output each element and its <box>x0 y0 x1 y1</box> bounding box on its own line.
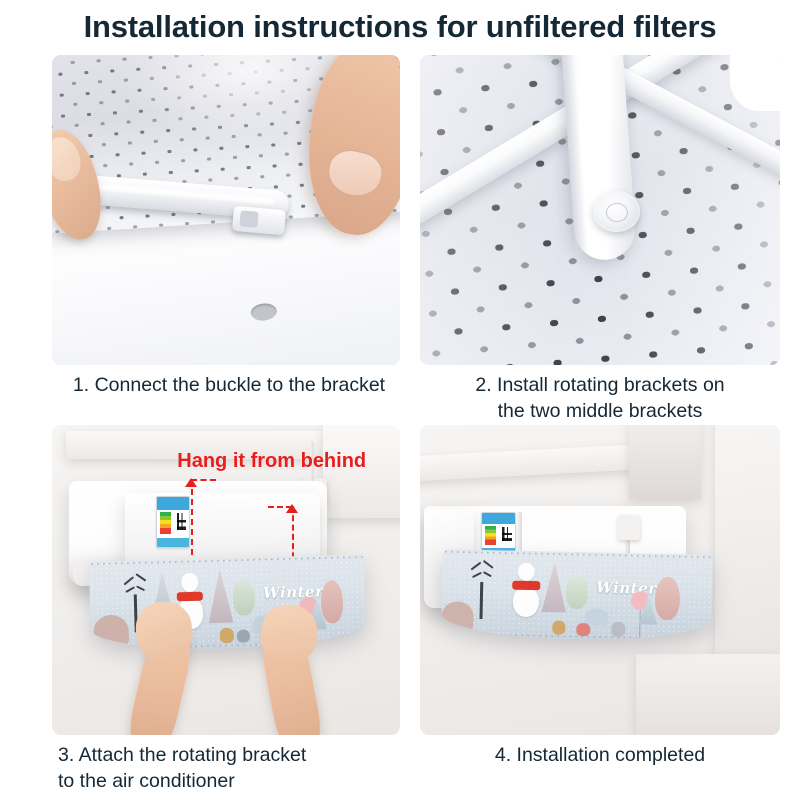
label-header <box>157 497 188 510</box>
step-3-caption-line1: 3. Attach the rotating bracket <box>58 742 400 768</box>
tree-trunk <box>479 582 483 619</box>
small-animal <box>576 623 590 636</box>
snow-bush <box>584 608 609 626</box>
step-4-photo: Winter <box>420 425 780 735</box>
label-qr-code <box>502 527 512 542</box>
tree-branch <box>124 576 135 585</box>
step-4-caption-line1: 4. Installation completed <box>420 742 780 768</box>
bare-tree <box>463 555 499 620</box>
step-2: 2. Install rotating brackets on the two … <box>420 55 780 424</box>
pine-canopy <box>638 595 658 625</box>
knuckle-crease <box>398 66 400 74</box>
pine-tree <box>208 569 234 624</box>
energy-rating-label <box>156 496 189 548</box>
step-2-caption: 2. Install rotating brackets on the two … <box>420 372 780 424</box>
pine-tree <box>541 562 566 613</box>
ceiling-recess <box>629 425 701 499</box>
pine-tree <box>638 595 658 625</box>
tree-branch <box>136 574 147 583</box>
step-1-photo <box>52 55 400 365</box>
instruction-sheet: Installation instructions for unfiltered… <box>0 0 800 800</box>
snowman-scarf <box>177 592 203 602</box>
wall-hook <box>618 515 640 540</box>
snowman-head <box>182 573 199 592</box>
pine-canopy <box>541 562 566 613</box>
step-4: Winter 4. Installation completed <box>420 425 780 768</box>
tree-branch <box>482 571 491 577</box>
label-qr-code <box>177 513 186 530</box>
step-3: Hang it from behind <box>52 425 400 794</box>
snowman-body <box>512 585 539 617</box>
label-rating-bars <box>160 512 171 534</box>
sheet-hole <box>250 303 278 323</box>
label-header <box>482 513 514 524</box>
tree-branch <box>136 585 145 591</box>
guide-corner-left <box>191 479 215 481</box>
small-animal <box>611 622 625 637</box>
winter-deflector-panel: Winter <box>89 555 366 652</box>
label-rating-bars <box>485 526 496 545</box>
round-tree <box>233 579 256 616</box>
round-tree <box>565 574 587 609</box>
pivot-joint <box>593 191 640 231</box>
snowman <box>509 563 543 617</box>
buckle-clip <box>232 206 286 235</box>
snowman-head <box>517 563 535 582</box>
tree-branch <box>470 562 481 571</box>
step-2-caption-line2: the two middle brackets <box>420 398 780 424</box>
knuckle-crease <box>395 55 400 63</box>
label-footer <box>157 538 188 547</box>
step-3-caption-line2: to the air conditioner <box>58 768 400 794</box>
snowman-scarf <box>511 581 539 591</box>
tree-branch <box>126 587 136 594</box>
tree-branch <box>483 560 494 569</box>
tree-branch <box>472 572 482 578</box>
round-tree <box>654 576 679 620</box>
page-title: Installation instructions for unfiltered… <box>0 8 800 46</box>
round-canopy <box>654 576 679 620</box>
step-1: 1. Connect the buckle to the bracket <box>52 55 400 398</box>
round-canopy <box>565 574 587 609</box>
step-3-caption: 3. Attach the rotating bracket to the ai… <box>52 742 400 794</box>
step-3-photo: Hang it from behind <box>52 425 400 735</box>
annotation-hang-from-behind: Hang it from behind <box>177 450 366 473</box>
guide-corner-right <box>268 506 292 508</box>
step-2-photo <box>420 55 780 365</box>
small-animal <box>220 628 234 643</box>
round-canopy <box>233 579 256 616</box>
step-1-caption-line1: 1. Connect the buckle to the bracket <box>58 372 400 398</box>
step-2-caption-line1: 2. Install rotating brackets on <box>420 372 780 398</box>
wall-ledge <box>636 654 780 735</box>
step-4-caption: 4. Installation completed <box>420 742 780 768</box>
step-1-caption: 1. Connect the buckle to the bracket <box>52 372 400 398</box>
pine-canopy <box>208 569 234 624</box>
winter-deflector-panel: Winter <box>441 549 713 641</box>
small-animal <box>551 621 565 635</box>
